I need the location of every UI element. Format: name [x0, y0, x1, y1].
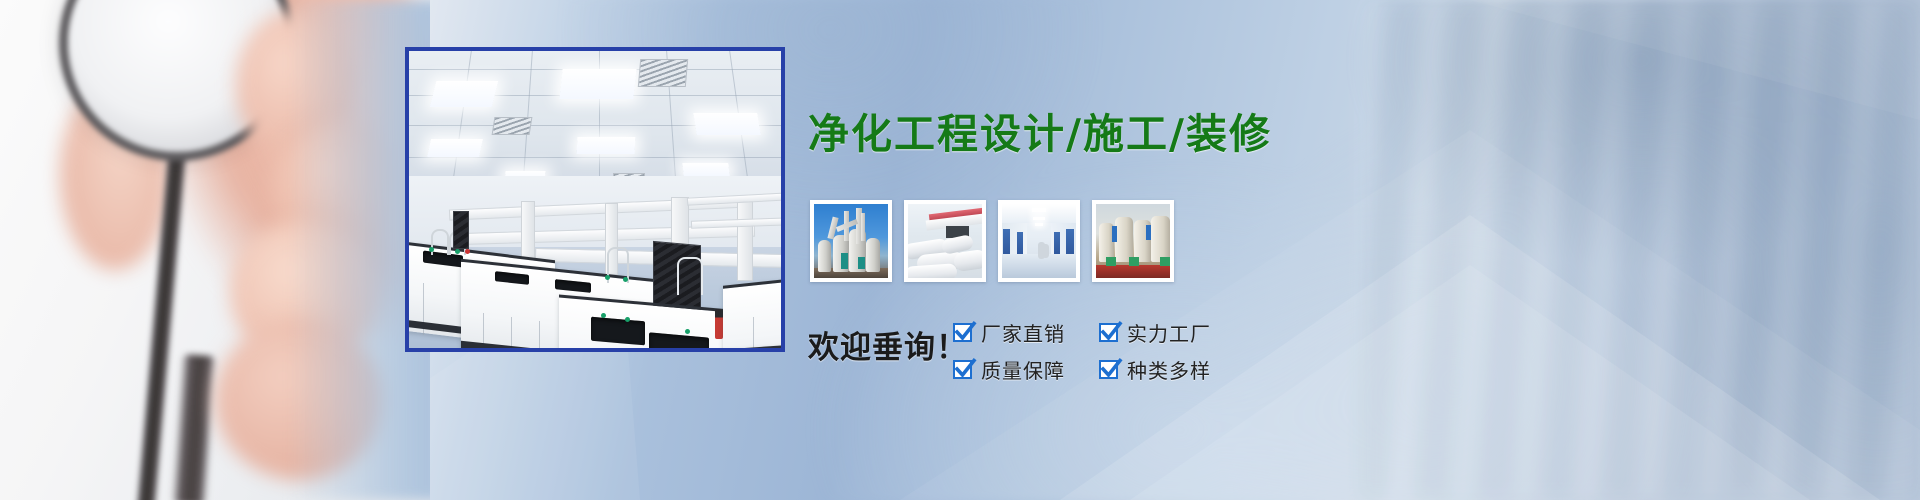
thumbnail-1[interactable] — [810, 200, 892, 282]
promo-content: 净化工程设计/施工/装修 — [800, 0, 1920, 500]
stethoscope-hand-photo — [0, 0, 430, 500]
ceiling-light — [682, 163, 729, 176]
thumbnail-2[interactable] — [904, 200, 986, 282]
laboratory-photo — [409, 51, 781, 348]
ceiling-light — [427, 139, 483, 157]
checkbox-checked-icon — [1099, 360, 1118, 379]
feature-item-0: 厂家直销 — [953, 318, 1065, 347]
thumbnail-3[interactable] — [998, 200, 1080, 282]
checkbox-checked-icon — [1099, 323, 1118, 342]
feature-item-1: 实力工厂 — [1099, 318, 1211, 347]
tank-farm-image — [1096, 204, 1170, 278]
lab-bench-right — [723, 276, 781, 348]
ceiling-vent — [492, 117, 533, 135]
faucet — [677, 257, 703, 295]
thumbnail-strip — [810, 200, 1174, 282]
faucet — [431, 229, 449, 255]
ceiling-light — [430, 81, 498, 107]
page-title: 净化工程设计/施工/装修 — [808, 100, 1272, 160]
welcome-text: 欢迎垂询！ — [808, 322, 968, 367]
ceiling-light — [693, 113, 760, 135]
checkbox-checked-icon — [953, 323, 972, 342]
feature-label: 厂家直销 — [981, 318, 1065, 347]
promo-banner: 净化工程设计/施工/装修 — [0, 0, 1920, 500]
sink — [591, 317, 645, 346]
ceiling-light — [559, 69, 636, 99]
hero-image-frame — [405, 47, 785, 352]
thumbnail-4[interactable] — [1092, 200, 1174, 282]
scrubber-towers-image — [814, 204, 888, 278]
cleanroom-corridor-image — [1002, 204, 1076, 278]
feature-checklist: 厂家直销 实力工厂 质量保障 种类多样 — [953, 318, 1211, 384]
equipment-panel — [453, 211, 469, 249]
feature-item-2: 质量保障 — [953, 355, 1065, 384]
checkbox-checked-icon — [953, 360, 972, 379]
feature-label: 质量保障 — [981, 355, 1065, 384]
feature-label: 实力工厂 — [1127, 318, 1211, 347]
feature-label: 种类多样 — [1127, 355, 1211, 384]
air-ducting-image — [908, 204, 982, 278]
shelf-post — [737, 201, 753, 281]
ceiling-vent — [638, 59, 688, 87]
ceiling-light — [577, 137, 636, 154]
reagent-bottle — [715, 309, 723, 339]
feature-item-3: 种类多样 — [1099, 355, 1211, 384]
